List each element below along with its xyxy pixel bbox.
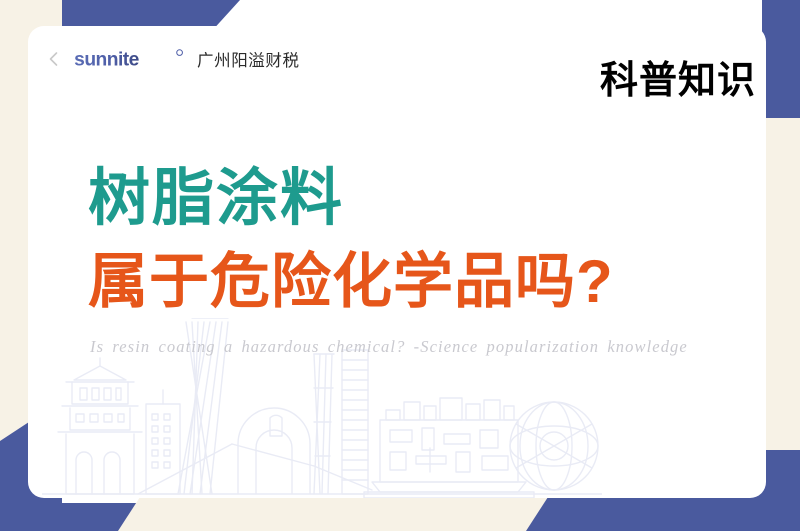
ifc-tower-icon bbox=[342, 350, 368, 494]
guangzhou-circle-towers-icon bbox=[314, 354, 334, 494]
library-building-icon bbox=[364, 398, 534, 498]
brand-name-label: 广州阳溢财税 bbox=[197, 47, 300, 71]
decoration-bottom-cream-trapezoid bbox=[118, 497, 548, 531]
category-badge: 科普知识 bbox=[600, 62, 756, 100]
skyline-ground-lines bbox=[42, 444, 602, 494]
headline-secondary: 属于危险化学品吗? bbox=[88, 249, 688, 315]
haixinsha-arch-icon bbox=[238, 408, 310, 494]
guangzhou-circle-icon bbox=[510, 402, 598, 490]
headline-block: 树脂涂料 属于危险化学品吗? Is resin coating a hazard… bbox=[88, 166, 688, 357]
office-building-icon bbox=[146, 390, 180, 494]
content-card: sunnite 广州阳溢财税 科普知识 树脂涂料 属于危险化学品吗? Is re… bbox=[28, 26, 766, 498]
headline-primary: 树脂涂料 bbox=[88, 166, 688, 233]
headline-english-subtitle: Is resin coating a hazardous chemical? -… bbox=[90, 337, 688, 357]
zhenhai-tower-icon bbox=[58, 358, 142, 494]
poster-canvas: sunnite 广州阳溢财税 科普知识 树脂涂料 属于危险化学品吗? Is re… bbox=[0, 0, 800, 531]
chevron-left-icon[interactable] bbox=[44, 49, 64, 69]
svg-text:sunnite: sunnite bbox=[74, 49, 139, 70]
sunnite-logo: sunnite bbox=[74, 48, 188, 70]
